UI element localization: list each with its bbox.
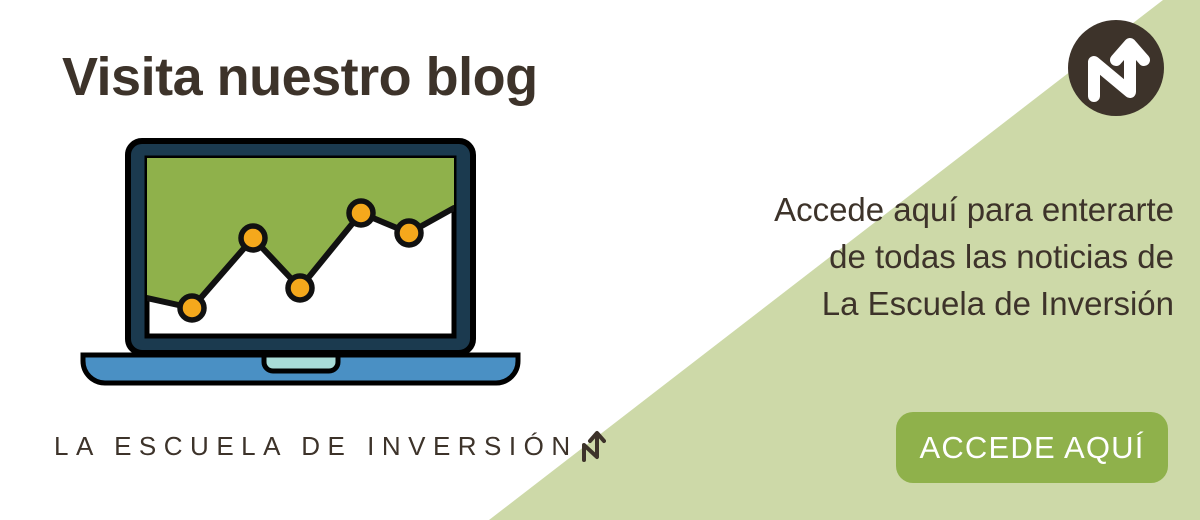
- promo-description: Accede aquí para enterarte de todas las …: [574, 186, 1174, 327]
- page-title: Visita nuestro blog: [62, 46, 538, 108]
- brand-wordmark-text: LA ESCUELA DE INVERSIÓN: [54, 431, 578, 462]
- n-arrow-up-logo-icon: [1068, 20, 1164, 116]
- brand-wordmark: LA ESCUELA DE INVERSIÓN: [54, 424, 606, 468]
- promo-line-1: Accede aquí para enterarte: [574, 186, 1174, 233]
- n-arrow-up-logo-icon: [580, 429, 606, 463]
- laptop-chart-illustration: [78, 138, 538, 388]
- promo-line-2: de todas las noticias de: [574, 233, 1174, 280]
- promo-line-3: La Escuela de Inversión: [574, 280, 1174, 327]
- promo-banner: Visita nuestro blog: [0, 0, 1200, 520]
- accede-aqui-button[interactable]: ACCEDE AQUÍ: [896, 412, 1168, 483]
